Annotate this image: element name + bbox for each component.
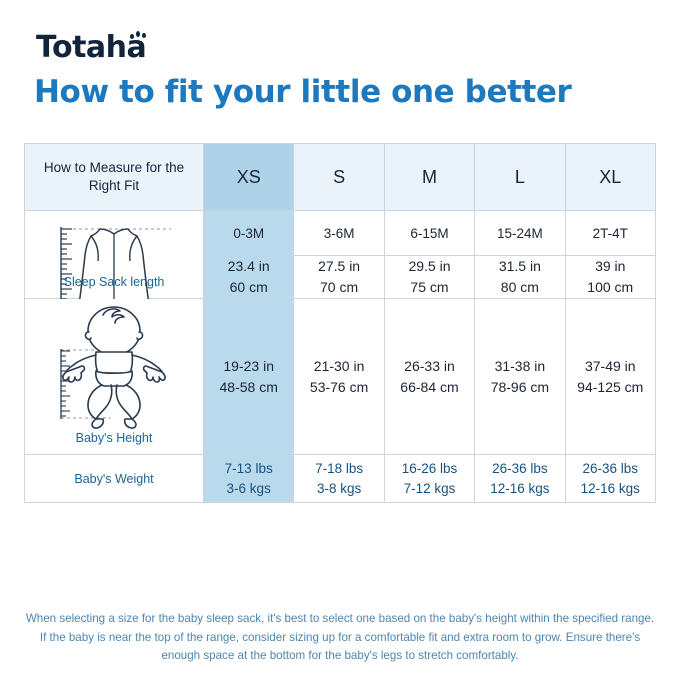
age-cell-m: 6-15M	[384, 211, 474, 256]
baby-illustration	[25, 305, 203, 429]
size-header-m: M	[384, 144, 474, 211]
size-chart-table: How to Measure for the Right Fit XS S M …	[24, 143, 656, 503]
age-cell-s: 3-6M	[294, 211, 384, 256]
size-header-s: S	[294, 144, 384, 211]
fit-guidance-note: When selecting a size for the baby sleep…	[22, 610, 658, 666]
table-header-row: How to Measure for the Right Fit XS S M …	[25, 144, 656, 211]
weight-cell-m: 16-26 lbs7-12 kgs	[384, 455, 474, 503]
age-cell-xs: 0-3M	[204, 211, 294, 256]
table-row-age: Sleep Sack length 0-3M 3-6M 6-15M 15-24M…	[25, 211, 656, 256]
weight-cell-l: 26-36 lbs12-16 kgs	[475, 455, 565, 503]
baby-weight-label: Baby's Weight	[25, 455, 204, 503]
height-cell-xl: 37-49 in94-125 cm	[565, 299, 655, 455]
table-row-baby-height: Baby's Height 19-23 in48-58 cm 21-30 in5…	[25, 299, 656, 455]
height-cell-s: 21-30 in53-76 cm	[294, 299, 384, 455]
table-row-baby-weight: Baby's Weight 7-13 lbs3-6 kgs 7-18 lbs3-…	[25, 455, 656, 503]
length-cell-s: 27.5 in70 cm	[294, 256, 384, 299]
baby-height-label: Baby's Height	[25, 431, 203, 445]
sleep-sack-illustration-cell: Sleep Sack length	[25, 211, 204, 299]
length-cell-l: 31.5 in80 cm	[475, 256, 565, 299]
height-cell-m: 26-33 in66-84 cm	[384, 299, 474, 455]
paw-dots-icon	[129, 30, 151, 42]
sleep-sack-length-label: Sleep Sack length	[25, 275, 203, 289]
brand-logo: Totaha	[36, 28, 146, 68]
height-cell-xs: 19-23 in48-58 cm	[204, 299, 294, 455]
weight-cell-xl: 26-36 lbs12-16 kgs	[565, 455, 655, 503]
size-header-xs: XS	[204, 144, 294, 211]
size-header-xl: XL	[565, 144, 655, 211]
weight-cell-s: 7-18 lbs3-8 kgs	[294, 455, 384, 503]
age-cell-xl: 2T-4T	[565, 211, 655, 256]
length-cell-xs: 23.4 in60 cm	[204, 256, 294, 299]
page-title: How to fit your little one better	[34, 74, 571, 110]
corner-header-label: How to Measure for the Right Fit	[25, 144, 204, 211]
length-cell-xl: 39 in100 cm	[565, 256, 655, 299]
baby-illustration-cell: Baby's Height	[25, 299, 204, 455]
height-cell-l: 31-38 in78-96 cm	[475, 299, 565, 455]
weight-cell-xs: 7-13 lbs3-6 kgs	[204, 455, 294, 503]
age-cell-l: 15-24M	[475, 211, 565, 256]
size-header-l: L	[475, 144, 565, 211]
length-cell-m: 29.5 in75 cm	[384, 256, 474, 299]
